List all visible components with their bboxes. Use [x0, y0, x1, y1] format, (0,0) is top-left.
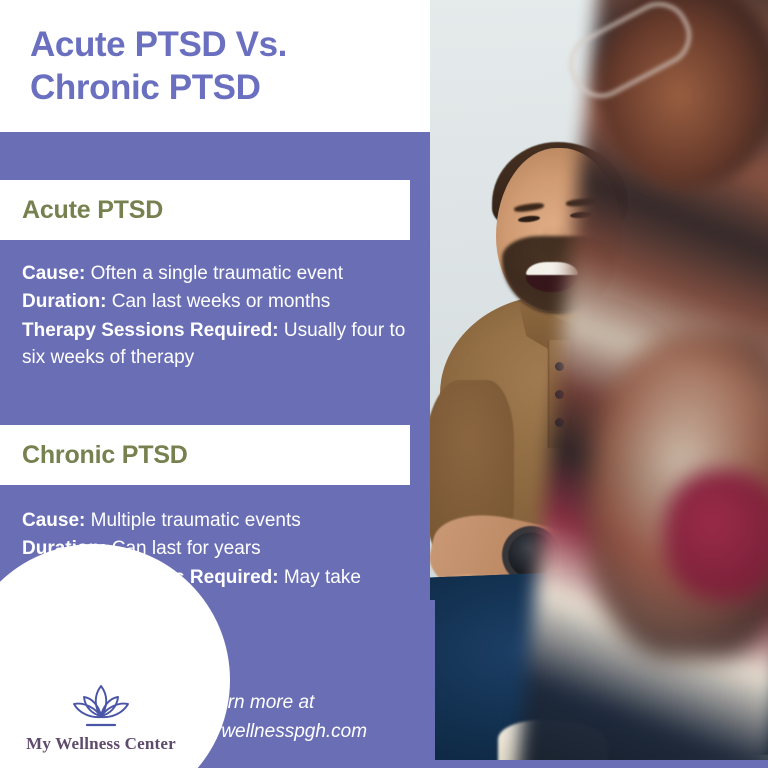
brand-logo[interactable]: My Wellness Center: [16, 680, 186, 754]
fact-row: Cause: Multiple traumatic events: [22, 507, 412, 534]
header-bar: Acute PTSD Vs. Chronic PTSD: [0, 0, 430, 132]
page-title-line-1: Acute PTSD Vs.: [30, 24, 410, 67]
fact-key: Cause:: [22, 510, 85, 531]
fact-key: Duration:: [22, 291, 106, 312]
call-to-action[interactable]: Learn more at mywellnesspgh.com: [196, 689, 426, 746]
fact-row: Therapy Sessions Required: Usually four …: [22, 317, 412, 372]
group-therapy-photo: [430, 0, 768, 768]
cta-line-1: Learn more at: [196, 689, 426, 718]
section-heading-label: Chronic PTSD: [22, 441, 188, 470]
page-title-line-2: Chronic PTSD: [30, 67, 410, 110]
page-title: Acute PTSD Vs. Chronic PTSD: [30, 24, 410, 109]
photo-bottom-accent-strip: [430, 760, 768, 768]
cta-website-url[interactable]: mywellnesspgh.com: [196, 718, 426, 747]
fact-key: Cause:: [22, 263, 85, 284]
fact-row: Duration: Can last weeks or months: [22, 288, 412, 315]
blurred-maroon-clothing: [664, 470, 768, 600]
lotus-flower-icon: [63, 680, 139, 730]
fact-key: Therapy Sessions Required:: [22, 320, 279, 341]
fact-value: Often a single traumatic event: [85, 263, 343, 284]
content-panel: Acute PTSD Cause: Often a single traumat…: [0, 132, 430, 768]
fact-value: Can last weeks or months: [106, 291, 330, 312]
fact-row: Cause: Often a single traumatic event: [22, 260, 412, 287]
section-header-acute: Acute PTSD: [0, 180, 410, 240]
fact-value: Multiple traumatic events: [85, 510, 300, 531]
photo-left-accent-strip: [430, 600, 435, 768]
brand-name: My Wellness Center: [16, 734, 186, 754]
section-facts-acute: Cause: Often a single traumatic event Du…: [22, 260, 412, 372]
section-heading-label: Acute PTSD: [22, 196, 163, 225]
ptsd-comparison-infographic: Acute PTSD Vs. Chronic PTSD Acute PTSD C…: [0, 0, 768, 768]
section-header-chronic: Chronic PTSD: [0, 425, 410, 485]
